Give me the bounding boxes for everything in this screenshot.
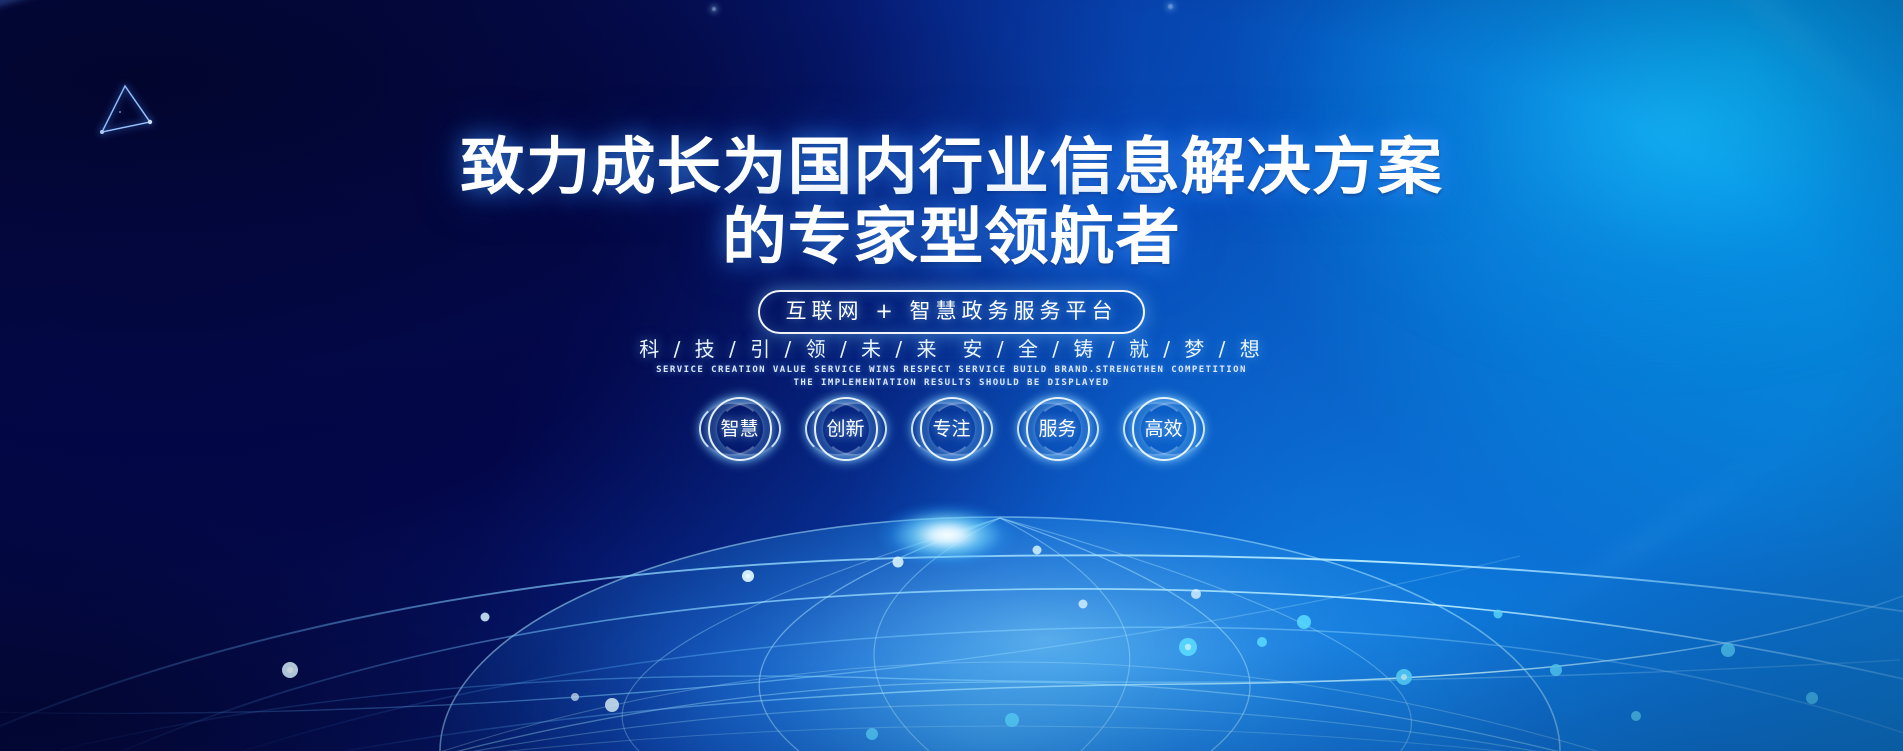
slogan-right: 安 / 全 / 铸 / 就 / 梦 / 想 xyxy=(963,337,1264,361)
value-circle: 智慧 xyxy=(708,397,772,461)
slogan-left: 科 / 技 / 引 / 领 / 未 / 来 xyxy=(639,337,940,361)
value-circle-label: 智慧 xyxy=(708,397,772,461)
slogan-line: 科 / 技 / 引 / 领 / 未 / 来安 / 全 / 铸 / 就 / 梦 /… xyxy=(0,333,1903,362)
page-title: 致力成长为国内行业信息解决方案 的专家型领航者 xyxy=(0,132,1903,272)
headline-line-1: 致力成长为国内行业信息解决方案 xyxy=(460,130,1443,203)
platform-badge: 互联网 + 智慧政务服务平台 xyxy=(758,290,1146,334)
value-circle-label: 服务 xyxy=(1026,397,1090,461)
english-line-2: THE IMPLEMENTATION RESULTS SHOULD BE DIS… xyxy=(0,377,1903,390)
value-circle-list: 智慧 创新 专注 服务 xyxy=(0,397,1903,461)
english-line-1: SERVICE CREATION VALUE SERVICE WINS RESP… xyxy=(0,364,1903,377)
value-circle-label: 专注 xyxy=(920,397,984,461)
value-circle: 专注 xyxy=(920,397,984,461)
value-circle: 服务 xyxy=(1026,397,1090,461)
headline-line-2: 的专家型领航者 xyxy=(0,202,1903,272)
banner-content: 致力成长为国内行业信息解决方案 的专家型领航者 互联网 + 智慧政务服务平台 科… xyxy=(0,0,1903,751)
platform-badge-row: 互联网 + 智慧政务服务平台 xyxy=(0,290,1903,334)
value-circle-label: 高效 xyxy=(1132,397,1196,461)
english-subtitle: SERVICE CREATION VALUE SERVICE WINS RESP… xyxy=(0,364,1903,390)
banner-canvas: 致力成长为国内行业信息解决方案 的专家型领航者 互联网 + 智慧政务服务平台 科… xyxy=(0,0,1903,751)
value-circle: 高效 xyxy=(1132,397,1196,461)
value-circle: 创新 xyxy=(814,397,878,461)
value-circle-label: 创新 xyxy=(814,397,878,461)
